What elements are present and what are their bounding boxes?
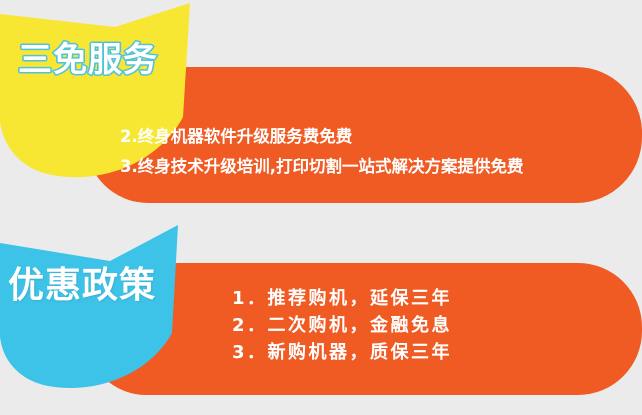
panel-line: 1．推荐购机，延保三年	[232, 285, 452, 312]
section-three-free-service: 三免服务 2.终身机器软件升级服务费免费 3.终身技术升级培训,打印切割一站式解…	[0, 0, 642, 212]
panel-line: 2．二次购机，金融免息	[232, 312, 452, 339]
cyan-ribbon-banner	[0, 225, 200, 390]
banner-title-preferential-policy: 优惠政策	[8, 268, 156, 304]
banner-title-three-free-service: 三免服务	[18, 43, 158, 77]
panel-line: 3．新购机器，质保三年	[232, 339, 452, 366]
panel-text-block-1: 2.终身机器软件升级服务费免费 3.终身技术升级培训,打印切割一站式解决方案提供…	[120, 122, 524, 182]
panel-line: 2.终身机器软件升级服务费免费	[120, 122, 524, 152]
panel-text-block-2: 1．推荐购机，延保三年 2．二次购机，金融免息 3．新购机器，质保三年	[232, 285, 452, 366]
panel-line: 3.终身技术升级培训,打印切割一站式解决方案提供免费	[120, 152, 524, 182]
promo-poster: 三免服务 2.终身机器软件升级服务费免费 3.终身技术升级培训,打印切割一站式解…	[0, 0, 642, 415]
